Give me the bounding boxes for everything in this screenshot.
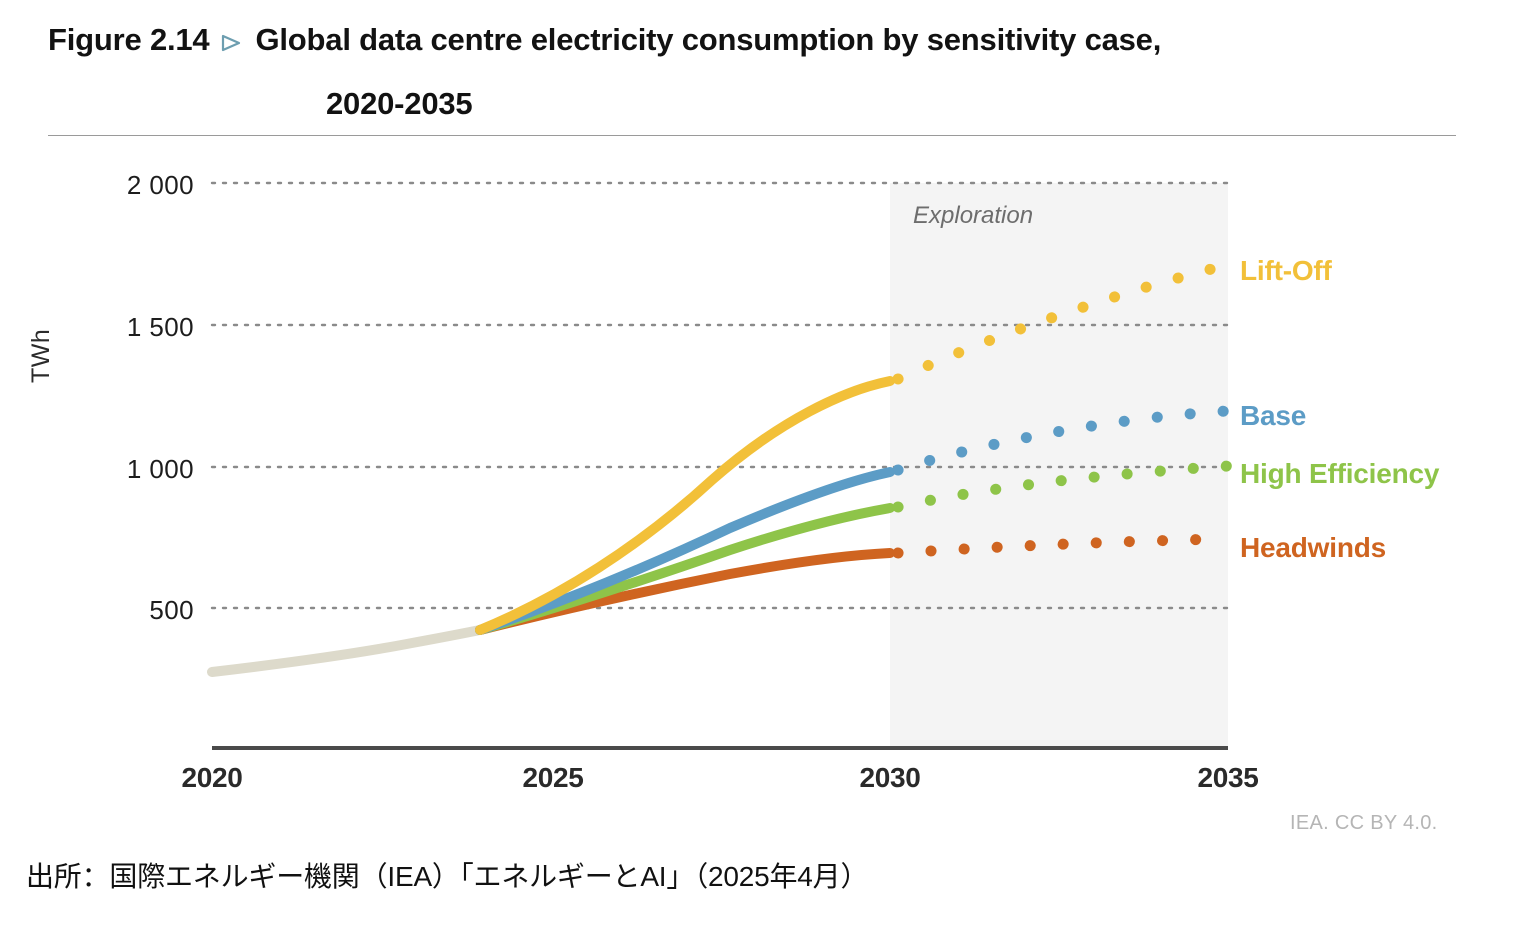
series-label-base: Base <box>1240 400 1306 432</box>
figure-header: Figure 2.14 Global data centre electrici… <box>48 18 1468 62</box>
y-axis-unit-label: TWh <box>27 353 56 383</box>
x-tick-2030: 2030 <box>820 762 960 794</box>
y-tick-2000: 2 000 <box>84 170 194 201</box>
figure-page: Figure 2.14 Global data centre electrici… <box>0 0 1540 932</box>
figure-title-line1: Global data centre electricity consumpti… <box>255 18 1161 62</box>
source-note: 出所：国際エネルギー機関（IEA）「エネルギーとAI」（2025年4月） <box>26 855 868 895</box>
y-tick-1000: 1 000 <box>84 454 194 485</box>
triangle-right-icon <box>221 18 241 52</box>
exploration-annotation: Exploration <box>913 202 1033 230</box>
x-tick-2025: 2025 <box>483 762 623 794</box>
series-line-lift-off-solid <box>480 381 890 630</box>
series-line-historical <box>212 630 480 672</box>
figure-number: Figure 2.14 <box>48 18 209 62</box>
series-label-lift-off: Lift-Off <box>1240 255 1332 287</box>
y-tick-1500: 1 500 <box>84 312 194 343</box>
chart-container: TWh 2 000 1 500 1 000 500 2020 2025 2030… <box>0 150 1540 810</box>
x-tick-2035: 2035 <box>1158 762 1298 794</box>
series-label-high-efficiency: High Efficiency <box>1240 458 1439 490</box>
iea-attribution: IEA. CC BY 4.0. <box>1290 812 1438 835</box>
title-divider <box>48 135 1456 136</box>
series-label-headwinds: Headwinds <box>1240 532 1386 564</box>
exploration-shaded-band <box>890 183 1228 748</box>
y-tick-500: 500 <box>84 595 194 626</box>
x-tick-2020: 2020 <box>142 762 282 794</box>
figure-title-line2: 2020-2035 <box>326 82 472 126</box>
